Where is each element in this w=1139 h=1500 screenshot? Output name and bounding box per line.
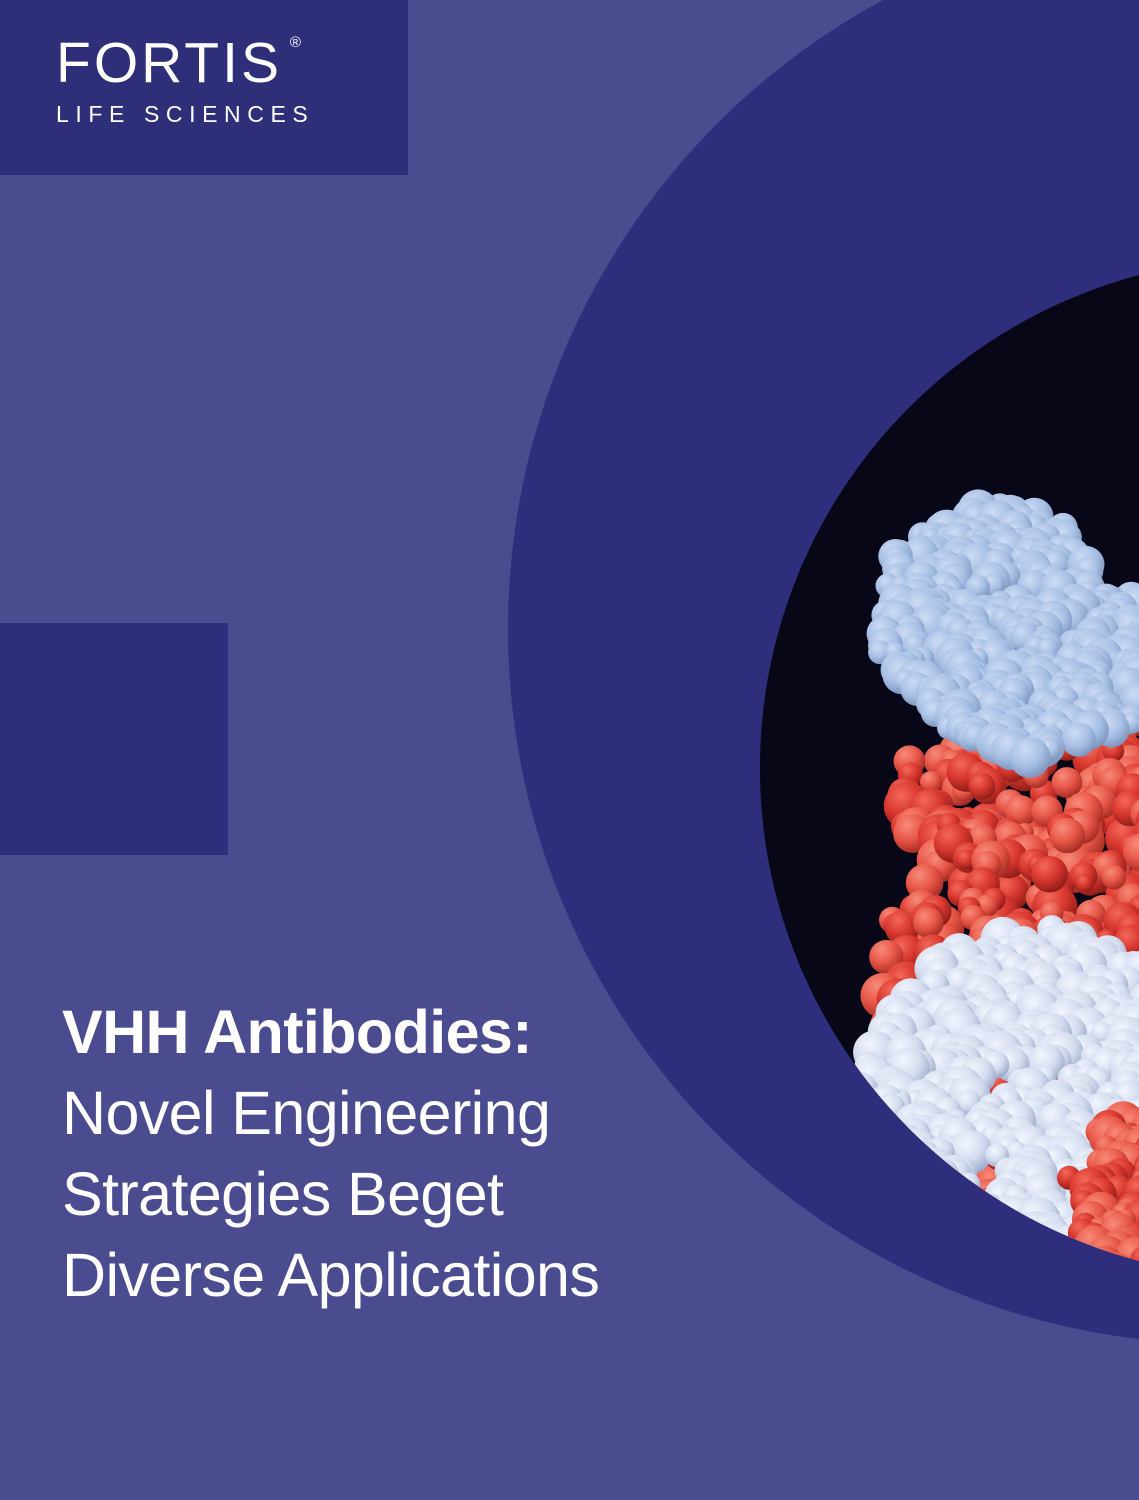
title-line-4: Diverse Applications bbox=[62, 1235, 822, 1316]
brand-wordmark: FORTIS ® bbox=[56, 34, 282, 92]
brand-tagline: LIFE SCIENCES bbox=[56, 101, 408, 128]
title-line-3: Strategies Beget bbox=[62, 1154, 822, 1235]
cover-title: VHH Antibodies: Novel Engineering Strate… bbox=[62, 992, 822, 1316]
decorative-accent-square bbox=[0, 623, 228, 855]
brand-logo-block: FORTIS ® LIFE SCIENCES bbox=[0, 0, 408, 175]
brand-wordmark-text: FORTIS bbox=[56, 31, 282, 95]
title-line-2: Novel Engineering bbox=[62, 1073, 822, 1154]
registered-trademark-icon: ® bbox=[290, 35, 304, 50]
cover-page: FORTIS ® LIFE SCIENCES VHH Antibodies: N… bbox=[0, 0, 1139, 1500]
title-line-1: VHH Antibodies: bbox=[62, 992, 822, 1073]
